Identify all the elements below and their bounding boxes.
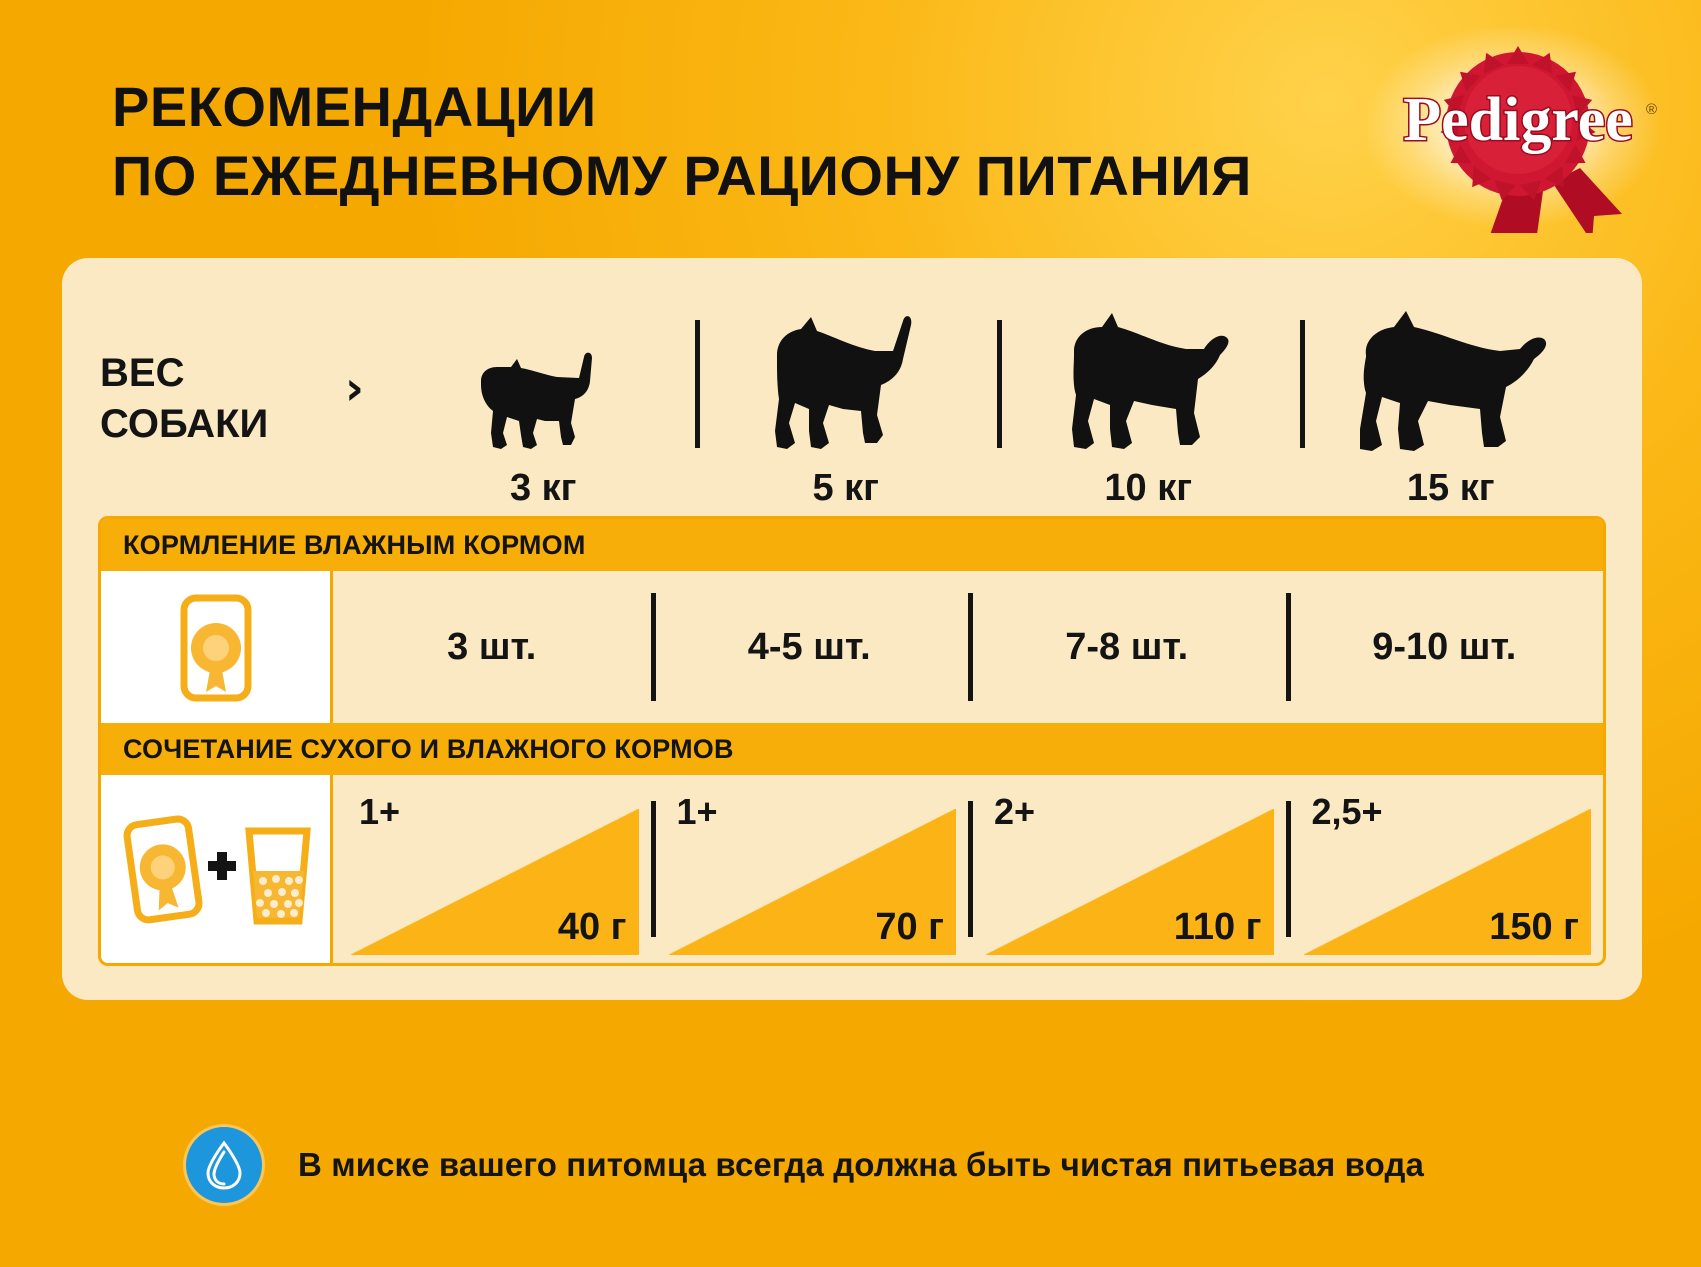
water-note: В миске вашего питомца всегда должна быт… [0, 1062, 1701, 1267]
large-dog-silhouette-icon [1048, 309, 1248, 461]
title-line-1: РЕКОМЕНДАЦИИ [112, 72, 1232, 141]
dog-weight-value: 5 кг [812, 467, 879, 510]
xlarge-dog-silhouette-icon [1342, 305, 1560, 461]
dog-columns: 3 кг 5 кг 10 кг [392, 284, 1602, 510]
wet-value: 3 шт. [447, 626, 536, 669]
small-dog-silhouette-icon [459, 337, 627, 461]
mixed-value-column: 2+ 110 г [968, 775, 1286, 963]
feeding-guide-card: ВЕС СОБАКИ › 3 кг 5 кг [62, 258, 1642, 1000]
dog-weight-row: ВЕС СОБАКИ › 3 кг 5 кг [62, 258, 1642, 516]
wet-feeding-row: 3 шт. 4-5 шт. 7-8 шт. 9-10 шт. [101, 571, 1603, 723]
mixed-feeding-header: СОЧЕТАНИЕ СУХОГО И ВЛАЖНОГО КОРМОВ [101, 723, 1603, 775]
feeding-table: КОРМЛЕНИЕ ВЛАЖНЫМ КОРМОМ 3 шт. [98, 516, 1606, 966]
mixed-dry-value: 110 г [1174, 906, 1262, 949]
mixed-wet-value: 2,5+ [1312, 791, 1383, 833]
weight-label-line-2: СОБАКИ [100, 399, 268, 450]
logo-wordmark: Pedigree [1403, 86, 1633, 154]
mixed-value-column: 2,5+ 150 г [1286, 775, 1604, 963]
page-title: РЕКОМЕНДАЦИИ ПО ЕЖЕДНЕВНОМУ РАЦИОНУ ПИТА… [112, 72, 1232, 211]
pouch-icon [170, 588, 262, 706]
mixed-dry-value: 40 г [558, 906, 627, 949]
mixed-wet-value: 1+ [677, 791, 718, 833]
mixed-value-column: 1+ 40 г [333, 775, 651, 963]
rosette-icon: Pedigree ® [1368, 28, 1668, 233]
medium-dog-silhouette-icon [753, 311, 939, 461]
chevron-right-icon: › [345, 361, 364, 415]
dog-column-1: 3 кг [392, 284, 695, 510]
wet-feeding-header: КОРМЛЕНИЕ ВЛАЖНЫМ КОРМОМ [101, 519, 1603, 571]
mixed-feeding-row: 1+ 40 г 1+ 70 г 2+ 110 г [101, 775, 1603, 963]
weight-label: ВЕС СОБАКИ [100, 348, 268, 450]
pedigree-logo: Pedigree ® [1368, 28, 1668, 233]
wet-values: 3 шт. 4-5 шт. 7-8 шт. 9-10 шт. [333, 571, 1603, 723]
trademark-symbol: ® [1646, 101, 1657, 118]
dog-column-3: 10 кг [997, 284, 1300, 510]
wet-icon-cell [101, 571, 333, 723]
wet-value-column: 4-5 шт. [651, 571, 969, 723]
mixed-dry-value: 70 г [875, 906, 944, 949]
measuring-cup-icon [249, 831, 307, 921]
mixed-icon-cell [101, 775, 333, 963]
title-line-2: ПО ЕЖЕДНЕВНОМУ РАЦИОНУ ПИТАНИЯ [112, 141, 1232, 210]
infographic-page: РЕКОМЕНДАЦИИ ПО ЕЖЕДНЕВНОМУ РАЦИОНУ ПИТА… [0, 0, 1701, 1267]
dog-column-2: 5 кг [695, 284, 998, 510]
wet-value-column: 3 шт. [333, 571, 651, 723]
wet-value: 4-5 шт. [748, 626, 871, 669]
wet-value: 7-8 шт. [1065, 626, 1188, 669]
pouch-icon [125, 818, 200, 922]
wet-value-column: 7-8 шт. [968, 571, 1286, 723]
wet-value-column: 9-10 шт. [1286, 571, 1604, 723]
weight-label-line-1: ВЕС [100, 348, 268, 399]
water-note-text: В миске вашего питомца всегда должна быт… [298, 1146, 1424, 1184]
dog-weight-value: 15 кг [1407, 467, 1495, 510]
mixed-values: 1+ 40 г 1+ 70 г 2+ 110 г [333, 775, 1603, 963]
wet-value: 9-10 шт. [1372, 626, 1516, 669]
water-drop-badge [186, 1127, 262, 1203]
water-drop-icon [202, 1140, 246, 1190]
mixed-value-column: 1+ 70 г [651, 775, 969, 963]
mixed-wet-value: 1+ [359, 791, 400, 833]
mixed-wet-value: 2+ [994, 791, 1035, 833]
mixed-feeding-icon-group [116, 809, 316, 929]
dog-weight-value: 3 кг [510, 467, 577, 510]
plus-icon [208, 852, 236, 880]
dog-weight-value: 10 кг [1104, 467, 1192, 510]
dog-column-4: 15 кг [1300, 284, 1603, 510]
mixed-dry-value: 150 г [1489, 906, 1579, 949]
